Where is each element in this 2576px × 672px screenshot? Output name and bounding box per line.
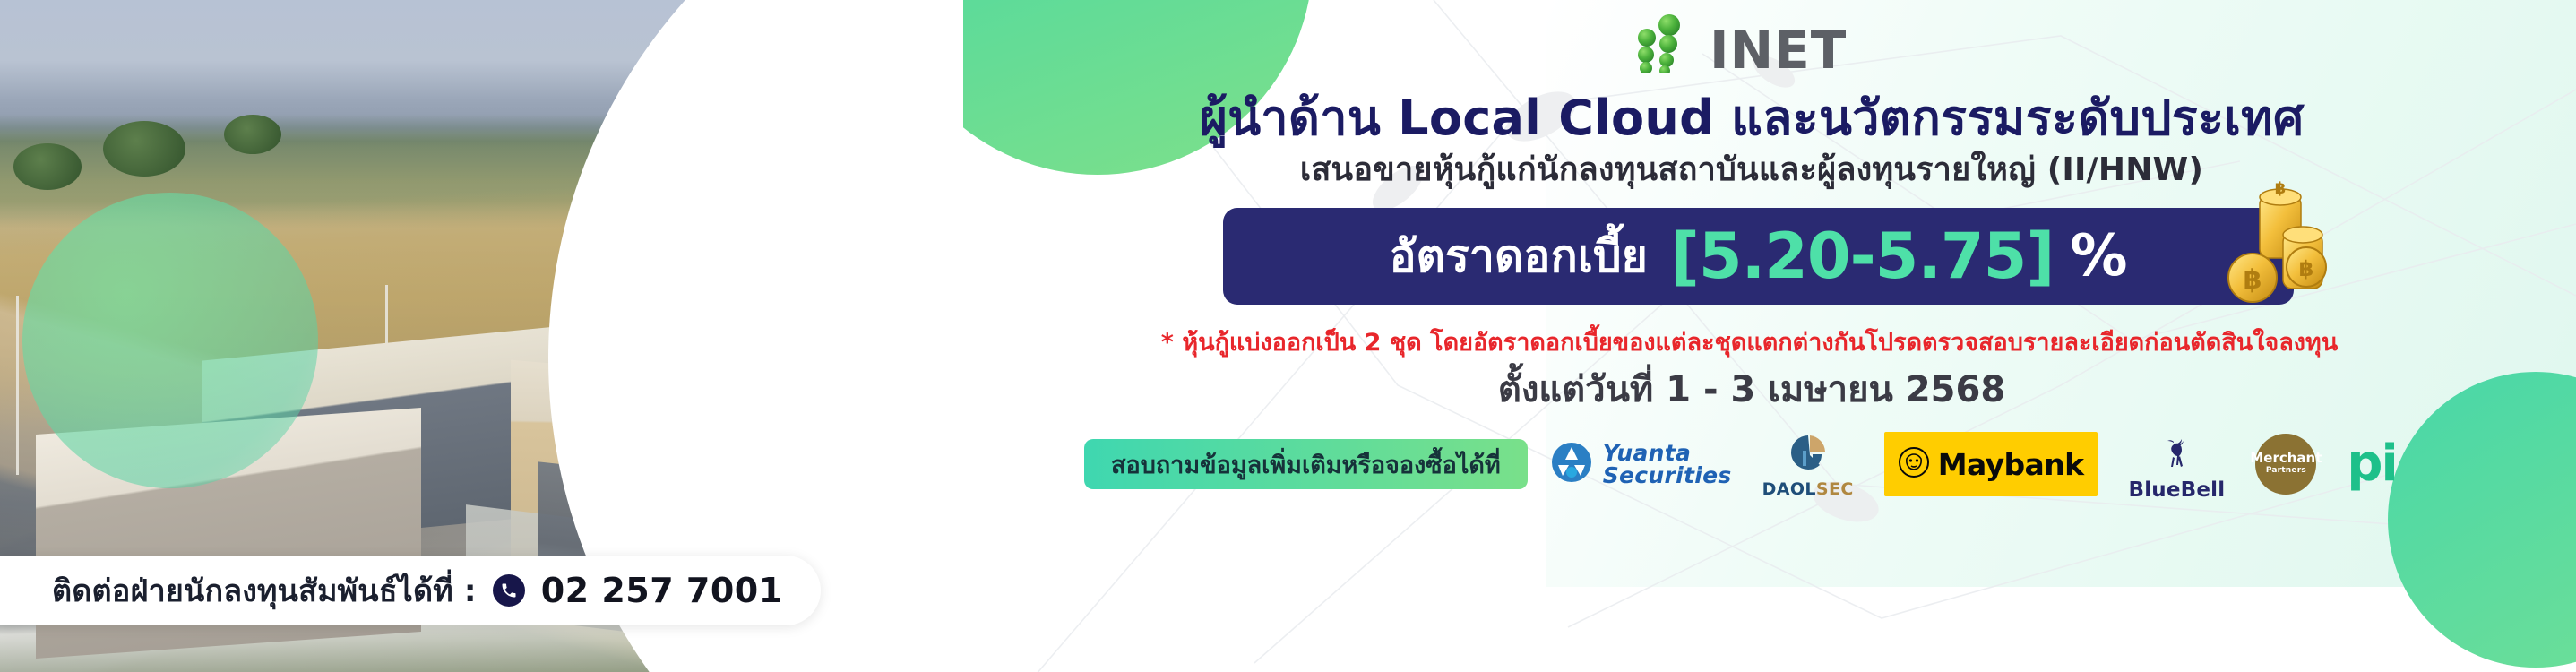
gold-coins-icon: ฿ ฿ ฿ [2220,181,2337,315]
inet-bond-banner: ติดต่อฝ่ายนักลงทุนสัมพันธ์ได้ที่ : 02 25… [0,0,2576,672]
interest-rate-box: อัตราดอกเบี้ย [5.20-5.75] % [1223,208,2294,305]
investor-relations-contact[interactable]: ติดต่อฝ่ายนักลงทุนสัมพันธ์ได้ที่ : 02 25… [0,556,821,625]
cta-and-partners-row: สอบถามข้อมูลเพิ่มเติมหรือจองซื้อได้ที่ [1084,432,2576,496]
yuanta-line2: Securities [1603,464,1732,487]
bluebell-wordmark: BlueBell [2128,478,2225,502]
pi-wordmark-icon: pi [2347,444,2396,485]
inet-wordmark: INET [1710,27,1847,73]
partner-logos: Yuanta Securities [1551,432,2397,496]
daol-mark-icon [1786,432,1831,477]
svg-text:฿: ฿ [2244,264,2262,296]
svg-text:฿: ฿ [2299,256,2314,281]
phone-icon [493,574,525,607]
bluebell-deer-icon [2156,432,2197,477]
svg-text:฿: ฿ [2275,181,2287,198]
partner-logo-bluebell[interactable]: BlueBell [2128,432,2225,496]
disclaimer-note: * หุ้นกู้แบ่งออกเป็น 2 ชุด โดยอัตราดอกเบ… [923,323,2576,361]
merchant-circle-icon: Merchant Partners [2255,434,2316,495]
yuanta-mark-icon [1551,442,1592,487]
daol-line2: SEC [1816,479,1854,499]
yuanta-line1: Yuanta [1603,442,1732,464]
phone-number[interactable]: 02 257 7001 [541,571,783,610]
merchant-line2: Partners [2266,465,2306,477]
merchant-line1: Merchant [2250,452,2322,465]
interest-rate-unit: % [2070,223,2127,289]
interest-rate-value: [5.20-5.75] [1671,220,2054,293]
daol-line1: DAOL [1762,479,1816,499]
content-column: INET ผู้นำด้าน Local Cloud และนวัตกรรมระ… [950,0,2576,672]
partner-logo-maybank[interactable]: Maybank [1884,432,2098,496]
cta-button[interactable]: สอบถามข้อมูลเพิ่มเติมหรือจองซื้อได้ที่ [1084,439,1528,489]
inet-logo: INET [1631,14,1847,73]
partner-logo-pi[interactable]: pi [2347,432,2396,496]
contact-label: ติดต่อฝ่ายนักลงทุนสัมพันธ์ได้ที่ : [52,566,477,615]
interest-rate-label: อัตราดอกเบี้ย [1390,221,1648,292]
partner-logo-yuanta[interactable]: Yuanta Securities [1551,432,1732,496]
partner-logo-daol[interactable]: DAOLSEC [1762,432,1854,496]
maybank-wordmark: Maybank [1938,447,2084,482]
maybank-tiger-icon [1899,447,1929,481]
offer-period: ตั้งแต่วันที่ 1 - 3 เมษายน 2568 [950,360,2554,418]
partner-logo-merchant[interactable]: Merchant Partners [2255,432,2316,496]
inet-dots-icon [1631,14,1701,73]
